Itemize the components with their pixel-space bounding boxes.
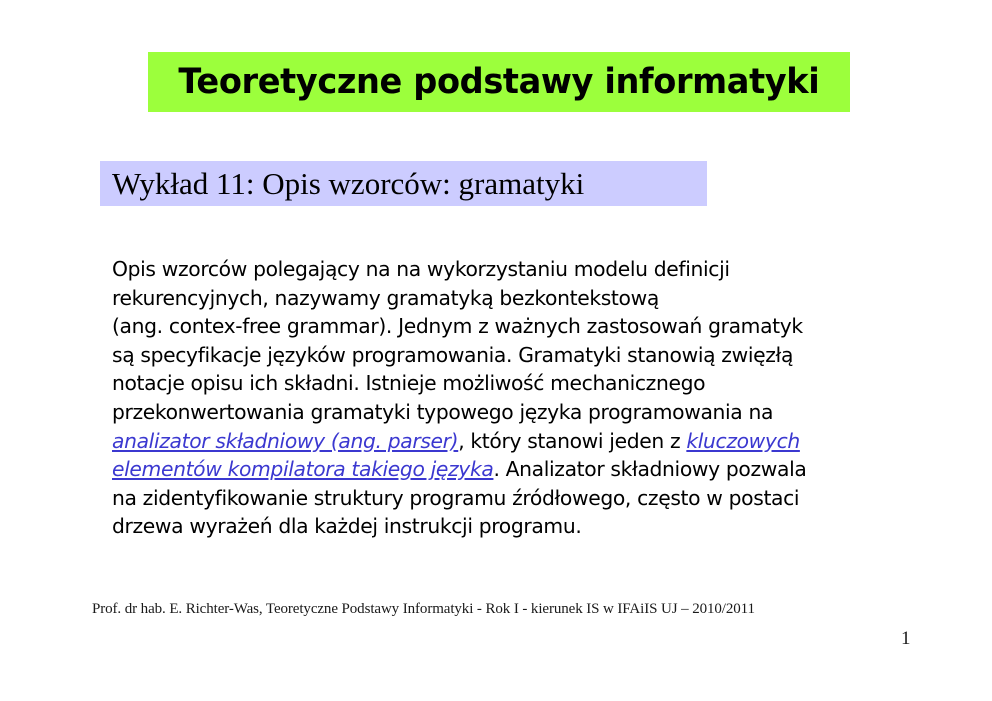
body-line: Opis wzorców polegający na na wykorzysta… [112,255,902,284]
body-line: są specyfikacje języków programowania. G… [112,341,902,370]
page-number: 1 [901,628,911,650]
body-text-run: rekurencyjnych, nazywamy gramatyką bezko… [112,286,659,310]
slide-subtitle: Wykład 11: Opis wzorców: gramatyki [112,168,584,199]
body-text-run: drzewa wyrażeń dla każdej instrukcji pro… [112,514,581,538]
body-line: przekonwertowania gramatyki typowego jęz… [112,398,902,427]
body-text-run: . Analizator składniowy pozwala [493,457,806,481]
body-line: drzewa wyrażeń dla każdej instrukcji pro… [112,512,902,541]
slide-title: Teoretyczne podstawy informatyki [178,65,819,100]
body-line: rekurencyjnych, nazywamy gramatyką bezko… [112,284,902,313]
body-text-run: Opis wzorców polegający na na wykorzysta… [112,257,730,281]
body-text-run: notacje opisu ich składni. Istnieje możl… [112,371,705,395]
slide-subtitle-banner: Wykład 11: Opis wzorców: gramatyki [100,161,707,206]
body-line: analizator składniowy (ang. parser), któ… [112,427,902,456]
body-line: na zidentyfikowanie struktury programu ź… [112,484,902,513]
slide-title-banner: Teoretyczne podstawy informatyki [148,52,850,112]
body-hyperlink[interactable]: analizator składniowy (ang. parser) [112,429,458,453]
body-text-run: na zidentyfikowanie struktury programu ź… [112,486,799,510]
body-line: notacje opisu ich składni. Istnieje możl… [112,369,902,398]
body-text-run: są specyfikacje języków programowania. G… [112,343,793,367]
body-hyperlink[interactable]: kluczowych [686,429,800,453]
body-text-run: (ang. contex-free grammar). Jednym z waż… [112,314,803,338]
slide-canvas: Teoretyczne podstawy informatyki Wykład … [0,0,992,701]
body-text-run: przekonwertowania gramatyki typowego jęz… [112,400,773,424]
slide-body-text: Opis wzorców polegający na na wykorzysta… [112,255,902,541]
slide-footer: Prof. dr hab. E. Richter-Was, Teoretyczn… [92,601,755,618]
body-hyperlink[interactable]: elementów kompilatora takiego języka [112,457,493,481]
body-line: elementów kompilatora takiego języka. An… [112,455,902,484]
body-line: (ang. contex-free grammar). Jednym z waż… [112,312,902,341]
body-text-run: , który stanowi jeden z [458,429,686,453]
